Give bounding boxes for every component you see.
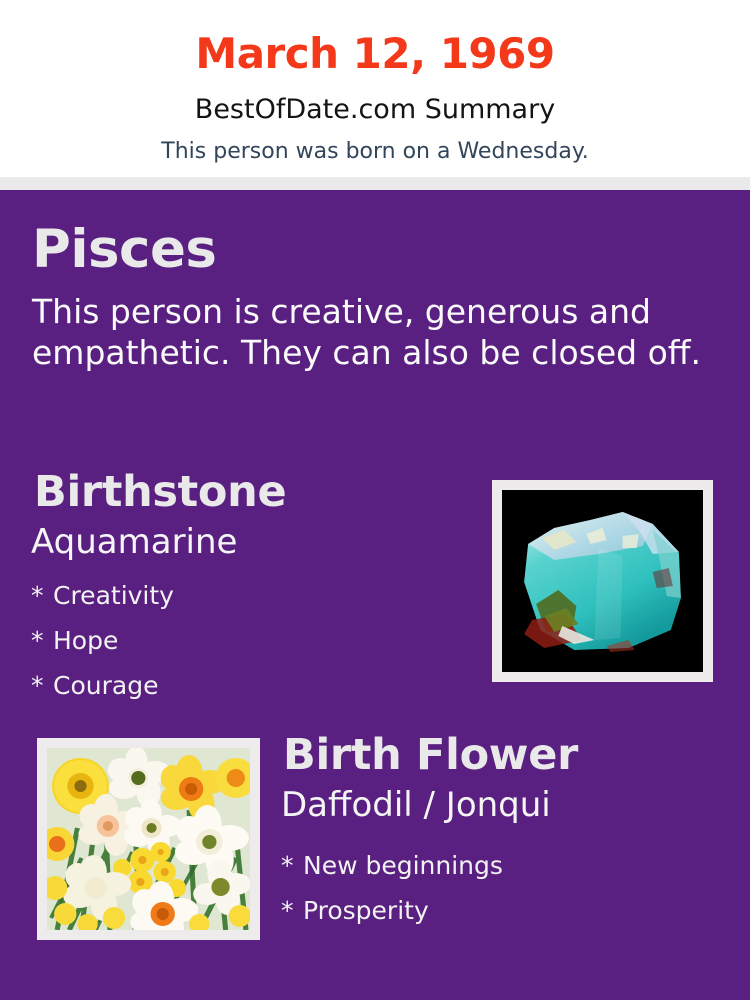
birthstone-trait-label: Courage [53, 671, 158, 700]
birth-weekday-note: This person was born on a Wednesday. [0, 123, 750, 163]
bullet-star-icon: * [31, 573, 53, 618]
card-header: March 12, 1969 BestOfDate.com Summary Th… [0, 0, 750, 177]
site-summary-label: BestOfDate.com Summary [0, 75, 750, 123]
birthstone-trait-label: Hope [53, 626, 118, 655]
bullet-star-icon: * [281, 843, 303, 888]
bullet-star-icon: * [31, 663, 53, 708]
birth-flower-photo-frame [37, 738, 260, 940]
list-item: *Creativity [31, 573, 174, 618]
birth-flower-trait-list: *New beginnings *Prosperity [281, 843, 503, 933]
birth-flower-trait-label: Prosperity [303, 896, 429, 925]
birth-flower-photo [47, 748, 250, 930]
summary-panel: Pisces This person is creative, generous… [0, 190, 750, 1000]
birth-flower-heading: Birth Flower [283, 734, 578, 777]
birthstone-name: Aquamarine [31, 525, 237, 559]
bullet-star-icon: * [281, 888, 303, 933]
list-item: *New beginnings [281, 843, 503, 888]
page-title: March 12, 1969 [0, 0, 750, 75]
birthstone-trait-list: *Creativity *Hope *Courage [31, 573, 174, 708]
header-divider [0, 177, 750, 190]
birth-date-summary-card: March 12, 1969 BestOfDate.com Summary Th… [0, 0, 750, 1000]
birthstone-heading: Birthstone [34, 471, 286, 514]
zodiac-description: This person is creative, generous and em… [32, 291, 704, 373]
birth-flower-trait-label: New beginnings [303, 851, 503, 880]
birthstone-photo [502, 490, 703, 672]
aquamarine-crystal-icon [502, 490, 703, 672]
list-item: *Courage [31, 663, 174, 708]
list-item: *Prosperity [281, 888, 503, 933]
list-item: *Hope [31, 618, 174, 663]
birthstone-trait-label: Creativity [53, 581, 174, 610]
daffodil-field-icon [47, 748, 250, 930]
birth-flower-name: Daffodil / Jonqui [281, 788, 551, 822]
birthstone-photo-frame [492, 480, 713, 682]
zodiac-sign-name: Pisces [32, 223, 216, 276]
bullet-star-icon: * [31, 618, 53, 663]
